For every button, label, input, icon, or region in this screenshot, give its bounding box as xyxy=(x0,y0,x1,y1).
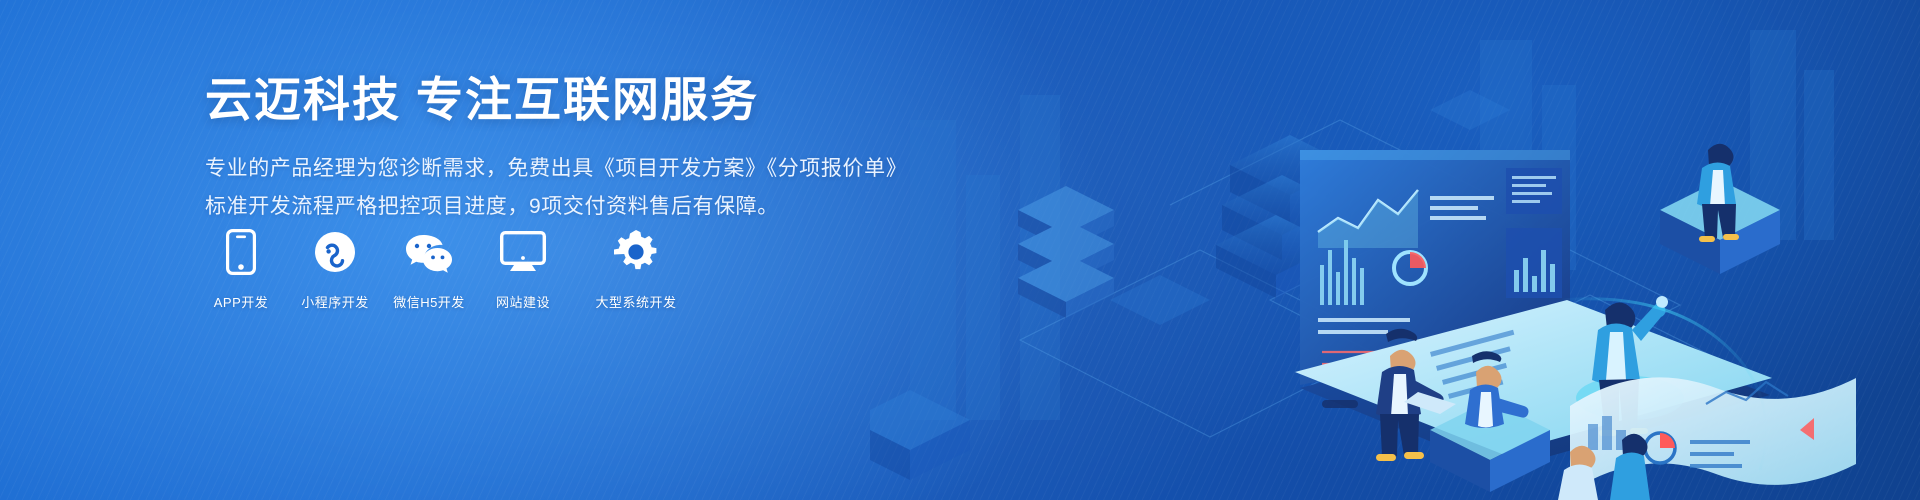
person-on-block-left xyxy=(1430,351,1550,492)
gear-icon xyxy=(612,228,660,276)
background-bars xyxy=(910,30,1834,420)
service-label: 小程序开发 xyxy=(301,292,369,311)
service-label: 微信H5开发 xyxy=(393,292,465,311)
geometric-blocks xyxy=(870,90,1510,480)
service-list: APP开发 小程序开发 xyxy=(205,228,713,311)
smartphone-icon xyxy=(217,228,265,276)
service-item-app[interactable]: APP开发 xyxy=(205,228,277,311)
page-title: 云迈科技 专注互联网服务 xyxy=(205,70,925,130)
seated-person-laptop xyxy=(1376,329,1456,461)
dashboard-screen xyxy=(1300,150,1570,385)
iso-grid xyxy=(1020,120,1750,437)
service-item-wechat-h5[interactable]: 微信H5开发 xyxy=(393,228,465,311)
service-label: 网站建设 xyxy=(496,292,550,311)
standing-person xyxy=(1592,296,1668,436)
standing-person-duo xyxy=(1558,434,1650,500)
monitor-icon xyxy=(499,228,547,276)
server-stack xyxy=(1018,186,1114,318)
subtitle-line-2: 标准开发流程严格把控项目进度，9项交付资料售后有保障。 xyxy=(205,188,925,225)
subtitle-line-1: 专业的产品经理为您诊断需求，免费出具《项目开发方案》《分项报价单》 xyxy=(205,150,925,187)
service-label: 大型系统开发 xyxy=(595,292,676,311)
person-on-block-right xyxy=(1660,144,1780,274)
service-item-large-system[interactable]: 大型系统开发 xyxy=(581,228,691,311)
illustration xyxy=(870,0,1920,500)
mini-program-icon xyxy=(311,228,359,276)
service-item-website[interactable]: 网站建设 xyxy=(487,228,559,311)
data-chart-sheet xyxy=(1570,377,1856,492)
smartphone-platform xyxy=(1295,300,1772,470)
banner-copy: 云迈科技 专注互联网服务 专业的产品经理为您诊断需求，免费出具《项目开发方案》《… xyxy=(205,70,925,225)
service-label: APP开发 xyxy=(214,292,269,311)
service-item-miniprogram[interactable]: 小程序开发 xyxy=(299,228,371,311)
wechat-icon xyxy=(405,228,453,276)
hero-banner: 云迈科技 专注互联网服务 专业的产品经理为您诊断需求，免费出具《项目开发方案》《… xyxy=(0,0,1920,500)
